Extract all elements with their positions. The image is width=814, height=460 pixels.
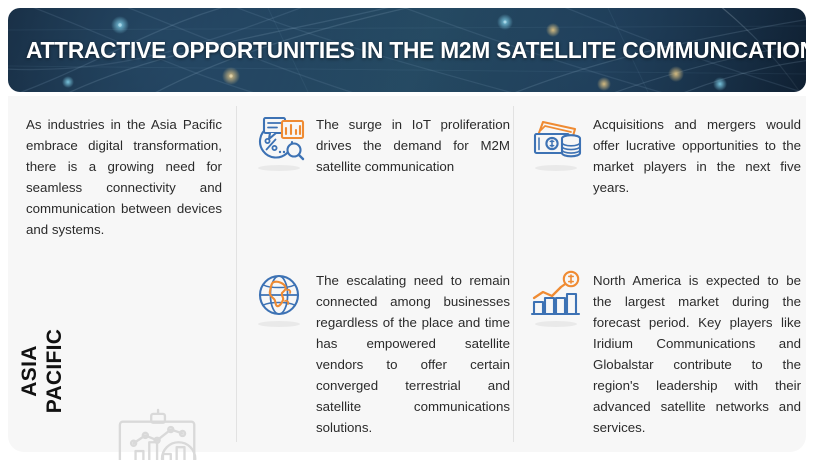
header-banner: ATTRACTIVE OPPORTUNITIES IN THE M2M SATE…	[8, 8, 806, 92]
divider-left	[236, 106, 237, 442]
card-text: Acquisitions and mergers would offer luc…	[593, 112, 801, 198]
money-cash-coins-icon	[529, 112, 583, 166]
iot-analytics-icon	[252, 112, 306, 166]
globe-icon	[252, 268, 306, 322]
growth-bar-chart-dollar-icon	[529, 268, 583, 322]
card-acquisitions-mergers: Acquisitions and mergers would offer luc…	[529, 112, 801, 198]
page-title: ATTRACTIVE OPPORTUNITIES IN THE M2M SATE…	[26, 8, 765, 92]
divider-middle	[513, 106, 514, 442]
infographic-page: ATTRACTIVE OPPORTUNITIES IN THE M2M SATE…	[0, 0, 814, 460]
presentation-board-chart-magnifier-icon	[112, 408, 210, 460]
card-text: The escalating need to remain connected …	[316, 268, 510, 438]
region-column: As industries in the Asia Pacific embrac…	[8, 96, 236, 452]
card-iot-proliferation: The surge in IoT proliferation drives th…	[252, 112, 510, 177]
card-text: North America is expected to be the larg…	[593, 268, 801, 438]
region-intro-text: As industries in the Asia Pacific embrac…	[26, 114, 222, 240]
body-panel: As industries in the Asia Pacific embrac…	[8, 96, 806, 452]
card-global-connectivity: The escalating need to remain connected …	[252, 268, 510, 438]
region-label: ASIA PACIFIC	[17, 311, 67, 431]
card-text: The surge in IoT proliferation drives th…	[316, 112, 510, 177]
card-north-america-market: North America is expected to be the larg…	[529, 268, 801, 438]
